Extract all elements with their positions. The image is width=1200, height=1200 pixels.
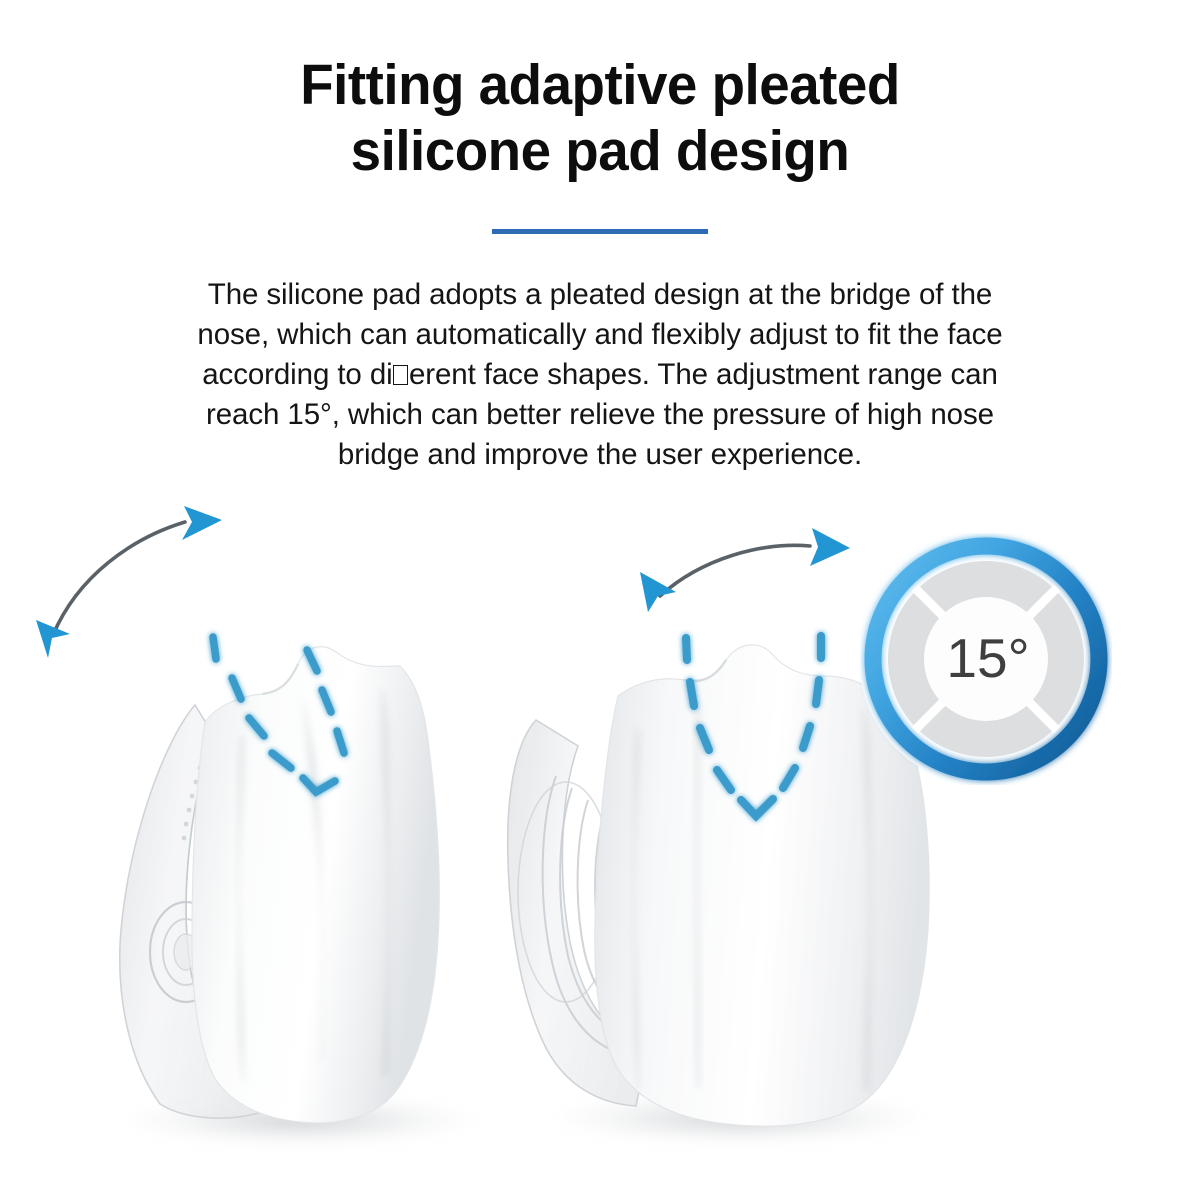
description-line-3: according to dierent face shapes. The ad…: [100, 355, 1100, 395]
arrow-head-upper: [182, 506, 222, 540]
description-line-4: reach 15°, which can better relieve the …: [100, 395, 1100, 435]
arrow-head-left: [640, 572, 676, 612]
right-adjustment-arrow: [640, 528, 850, 612]
angle-badge-dial: [860, 533, 1112, 785]
description-line-3a: according to di: [202, 358, 392, 391]
description-line-5: bridge and improve the user experience.: [100, 435, 1100, 475]
page-title-line-2: silicone pad design: [24, 118, 1176, 184]
angle-badge: 15°: [860, 533, 1112, 785]
description-line-1: The silicone pad adopts a pleated design…: [100, 275, 1100, 315]
arrow-head-lower: [36, 620, 70, 658]
page-title: Fitting adaptive pleated silicone pad de…: [24, 0, 1176, 184]
description-line-3b: erent face shapes. The adjustment range …: [409, 358, 998, 391]
page-title-line-1: Fitting adaptive pleated: [24, 52, 1176, 118]
missing-glyph-box-icon: [393, 365, 408, 386]
arrow-head-right: [810, 528, 850, 566]
title-divider: [492, 229, 708, 234]
left-mask-body: [192, 647, 439, 1123]
badge-center-disc: [924, 597, 1048, 721]
left-mask-illustration: [36, 506, 478, 1146]
illustration-stage: 15°: [0, 500, 1200, 1200]
description-line-2: nose, which can automatically and flexib…: [100, 315, 1100, 355]
left-adjustment-arrow: [36, 506, 222, 658]
description-paragraph: The silicone pad adopts a pleated design…: [100, 275, 1100, 475]
header: Fitting adaptive pleated silicone pad de…: [0, 0, 1200, 184]
